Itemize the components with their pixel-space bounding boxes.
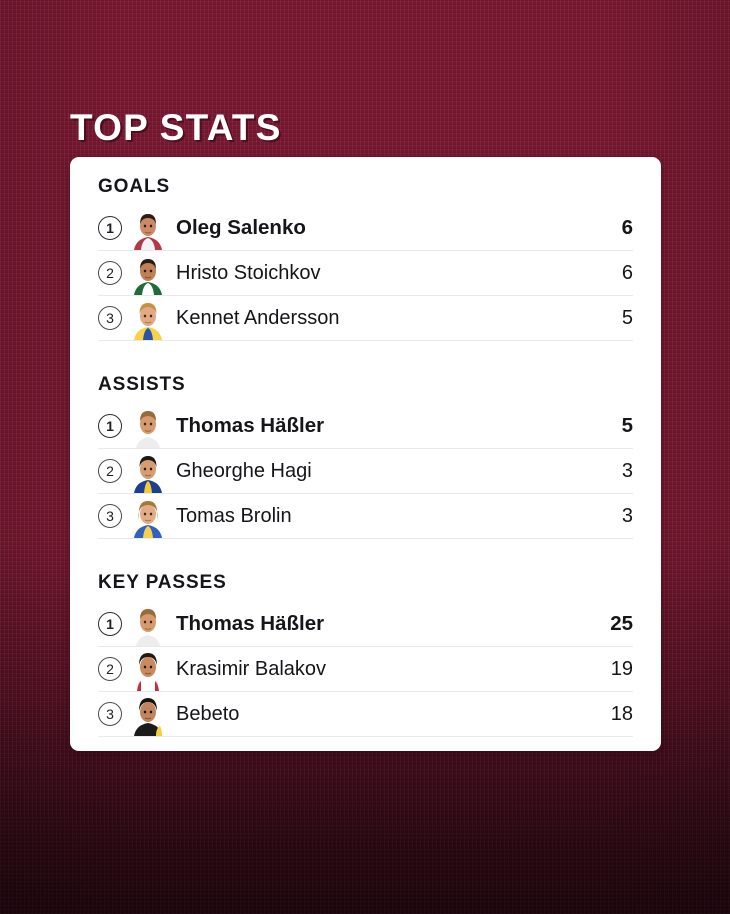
table-row[interactable]: 2 Gheorghe Hagi 3 bbox=[98, 449, 633, 494]
rank-number: 1 bbox=[106, 418, 114, 434]
player-headshot-hristo-stoichkov bbox=[132, 251, 164, 295]
player-name: Oleg Salenko bbox=[176, 216, 599, 240]
player-headshot-krasimir-balakov bbox=[132, 647, 164, 691]
table-row[interactable]: 3 Kennet Andersson 5 bbox=[98, 296, 633, 341]
stat-value: 3 bbox=[599, 460, 633, 483]
player-headshot-bebeto bbox=[132, 692, 164, 736]
stat-value: 25 bbox=[599, 612, 633, 636]
stat-value: 6 bbox=[599, 216, 633, 240]
stat-value: 19 bbox=[599, 658, 633, 681]
rank-badge: 1 bbox=[98, 216, 122, 240]
player-name: Tomas Brolin bbox=[176, 505, 599, 528]
stat-value: 3 bbox=[599, 505, 633, 528]
rank-badge: 2 bbox=[98, 459, 122, 483]
player-name: Bebeto bbox=[176, 703, 599, 726]
stat-value: 5 bbox=[599, 307, 633, 330]
section-title-assists: ASSISTS bbox=[98, 341, 633, 396]
player-name: Gheorghe Hagi bbox=[176, 460, 599, 483]
rank-number: 2 bbox=[106, 661, 114, 677]
poster-background: TOP STATS GOALS 1 bbox=[0, 0, 730, 914]
rank-number: 1 bbox=[106, 220, 114, 236]
stat-rows-assists: 1 Thomas Häßler 5 bbox=[98, 404, 633, 539]
rank-number: 2 bbox=[106, 265, 114, 281]
rank-number: 3 bbox=[106, 310, 114, 326]
stat-value: 5 bbox=[599, 414, 633, 438]
rank-badge: 3 bbox=[98, 504, 122, 528]
player-name: Thomas Häßler bbox=[176, 414, 599, 438]
rank-badge: 2 bbox=[98, 261, 122, 285]
stat-rows-goals: 1 Oleg Salenko 6 bbox=[98, 206, 633, 341]
player-headshot-tomas-brolin bbox=[132, 494, 164, 538]
rank-badge: 3 bbox=[98, 306, 122, 330]
rank-number: 2 bbox=[106, 463, 114, 479]
top-stats-card: GOALS 1 Ol bbox=[70, 157, 661, 751]
stat-section-assists: ASSISTS 1 bbox=[98, 341, 633, 539]
player-headshot-gheorghe-hagi bbox=[132, 449, 164, 493]
rank-number: 3 bbox=[106, 706, 114, 722]
stat-rows-key-passes: 1 Thomas Häßler 25 bbox=[98, 602, 633, 737]
player-headshot-oleg-salenko bbox=[132, 206, 164, 250]
stat-section-key-passes: KEY PASSES 1 bbox=[98, 539, 633, 737]
player-name: Kennet Andersson bbox=[176, 307, 599, 330]
section-title-goals: GOALS bbox=[98, 157, 633, 198]
stat-value: 6 bbox=[599, 262, 633, 285]
table-row[interactable]: 3 Tomas bbox=[98, 494, 633, 539]
player-headshot-kennet-andersson bbox=[132, 296, 164, 340]
table-row[interactable]: 1 Thomas Häßler 25 bbox=[98, 602, 633, 647]
table-row[interactable]: 2 Krasimir Balakov bbox=[98, 647, 633, 692]
rank-badge: 1 bbox=[98, 414, 122, 438]
rank-number: 3 bbox=[106, 508, 114, 524]
table-row[interactable]: 3 Bebeto 18 bbox=[98, 692, 633, 737]
rank-badge: 3 bbox=[98, 702, 122, 726]
table-row[interactable]: 1 Oleg Salenko 6 bbox=[98, 206, 633, 251]
table-row[interactable]: 1 Thomas Häßler 5 bbox=[98, 404, 633, 449]
rank-badge: 1 bbox=[98, 612, 122, 636]
section-title-key-passes: KEY PASSES bbox=[98, 539, 633, 594]
player-name: Thomas Häßler bbox=[176, 612, 599, 636]
rank-number: 1 bbox=[106, 616, 114, 632]
rank-badge: 2 bbox=[98, 657, 122, 681]
stat-value: 18 bbox=[599, 703, 633, 726]
page-title: TOP STATS bbox=[70, 106, 282, 150]
player-headshot-thomas-hassler bbox=[132, 602, 164, 646]
player-name: Hristo Stoichkov bbox=[176, 262, 599, 285]
table-row[interactable]: 2 Hristo Stoichkov 6 bbox=[98, 251, 633, 296]
player-name: Krasimir Balakov bbox=[176, 658, 599, 681]
player-headshot-thomas-hassler bbox=[132, 404, 164, 448]
stat-section-goals: GOALS 1 Ol bbox=[98, 157, 633, 341]
